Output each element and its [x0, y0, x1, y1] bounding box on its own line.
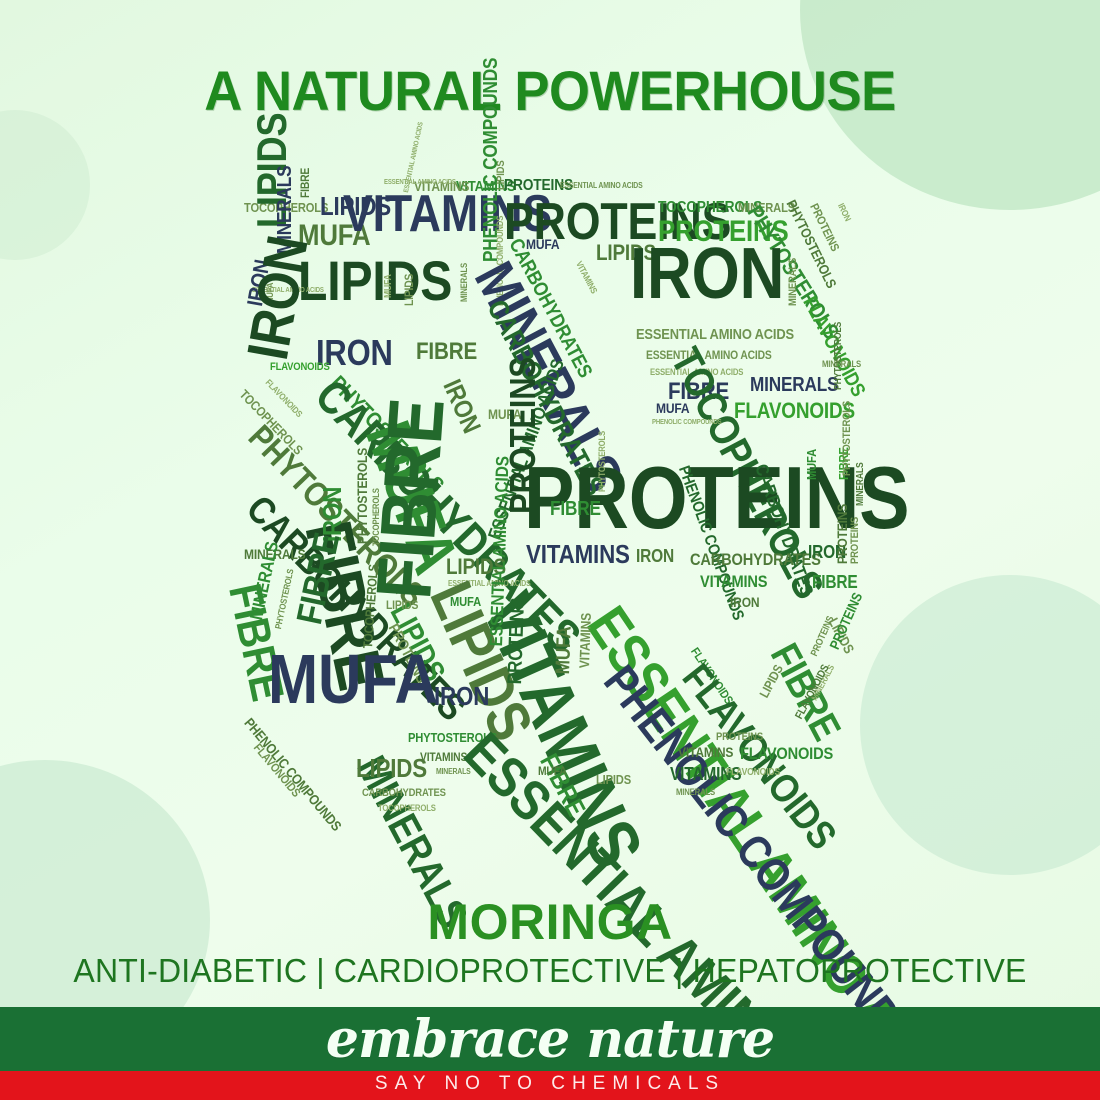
cloud-word: FIBRE — [416, 340, 487, 363]
cloud-word: PROTEINS — [850, 509, 861, 564]
cloud-word-text: FIBRE — [300, 168, 312, 198]
cloud-word-text: LIPIDS — [298, 254, 452, 308]
cloud-word: MINERALS — [788, 250, 799, 306]
cloud-word: LIPIDS — [386, 600, 423, 612]
cloud-word: MINERALS — [676, 788, 721, 797]
cloud-word-text: VITAMINS — [574, 260, 598, 295]
brand-name: embrace nature — [0, 1012, 1100, 1068]
cloud-word: FIBRE — [300, 163, 312, 198]
cloud-word: PHENOLIC COMPOUNDS — [242, 716, 358, 851]
cloud-word-text: LIPIDS — [596, 774, 631, 786]
cloud-word-text: ESSENTIAL AMINO ACIDS — [560, 182, 643, 190]
cloud-word-text: ESSENTIAL AMINO ACIDS — [384, 180, 456, 187]
cloud-word: ESSENTIAL AMINO ACIDS — [384, 180, 467, 187]
cloud-word-text: VITAMINS — [526, 542, 630, 567]
cloud-word-text: MINERALS — [788, 258, 799, 306]
cloud-word: MUFA — [384, 270, 394, 298]
cloud-word: LIPIDS — [404, 269, 416, 306]
cloud-word: CARBOHYDRATES — [362, 788, 459, 799]
plant-name: MORINGA — [0, 893, 1100, 951]
cloud-word-text: FLAVONOIDS — [726, 768, 780, 778]
cloud-word-text: FLAVONOIDS — [734, 400, 855, 421]
cloud-word: ESSENTIAL AMINO ACIDS — [560, 182, 656, 190]
cloud-word: IRON — [434, 684, 498, 709]
cloud-word-text: FLAVONOIDS — [270, 362, 330, 373]
cloud-word-text: ESSENTIAL AMINO ACIDS — [636, 328, 794, 342]
cloud-word: MUFA — [656, 402, 695, 415]
cloud-word-text: MUFA — [538, 766, 567, 778]
cloud-word-text: MUFA — [656, 402, 689, 415]
cloud-word: VITAMINS — [700, 574, 778, 590]
benefits-line: ANTI-DIABETIC | CARDIOPROTECTIVE | HEPAT… — [17, 952, 1084, 990]
cloud-word: VITAMINS — [526, 542, 647, 567]
poster-canvas: A NATURAL POWERHOUSE TOCOPHEROLSLIPIDSFI… — [0, 0, 1100, 1100]
cloud-word: PHYTOSTEROLS — [842, 389, 853, 476]
cloud-word-text: PHYTOSTEROLS — [834, 322, 844, 390]
cloud-word-text: IRON — [730, 596, 759, 609]
cloud-word: VITAMINS — [574, 260, 601, 300]
cloud-word-text: MINERALS — [750, 376, 838, 395]
cloud-word: PROTEINS — [836, 494, 849, 564]
cloud-word-text: IRON — [836, 202, 852, 223]
cloud-word-text: CARBOHYDRATES — [362, 788, 446, 799]
cloud-word: FLAVONOIDS — [270, 362, 339, 373]
cloud-word-text: IRON — [636, 548, 674, 565]
brand-tagline: SAY NO TO CHEMICALS — [0, 1073, 1100, 1095]
cloud-word: IRON — [836, 202, 853, 225]
cloud-word-text: IRON — [630, 240, 784, 309]
decorative-circle-left — [0, 110, 90, 260]
cloud-word-text: VITAMINS — [700, 574, 767, 590]
cloud-word-text: PROTEINS — [850, 517, 861, 564]
cloud-word: PHYTOSTEROLS — [598, 421, 607, 492]
page-title: A NATURAL POWERHOUSE — [33, 62, 1067, 120]
cloud-word-text: PHENOLIC COMPOUNDS — [242, 716, 344, 833]
cloud-word-text: MUFA — [384, 274, 394, 298]
cloud-word-text: MUFA — [268, 646, 438, 713]
cloud-word-text: LIPIDS — [356, 756, 427, 781]
cloud-word-text: PHYTOSTEROLS — [598, 431, 607, 492]
cloud-word: IRON — [240, 212, 320, 364]
cloud-word-text: FIBRE — [812, 574, 858, 591]
cloud-word: IRON — [730, 596, 764, 609]
cloud-word-text: FLAVONOIDS — [740, 746, 833, 762]
cloud-word-text: PROTEINS — [716, 732, 763, 743]
cloud-word: MINERALS — [856, 455, 866, 506]
cloud-word-text: LIPIDS — [404, 274, 416, 306]
cloud-word: TOCOPHEROLS — [378, 804, 445, 813]
cloud-word: ESSENTIAL AMINO ACIDS — [636, 328, 820, 342]
cloud-word: MUFA — [554, 618, 575, 675]
cloud-word-text: PROTEINS — [836, 504, 849, 564]
cloud-word: FLAVONOIDS — [740, 746, 848, 762]
cloud-word: MUFA — [806, 444, 818, 480]
cloud-word: VITAMINS — [578, 604, 594, 669]
cloud-word: LIPIDS — [356, 756, 439, 781]
cloud-word: VITAMINS — [678, 746, 742, 759]
cloud-word-text: IRON — [240, 232, 316, 364]
cloud-word-text: FIBRE — [550, 500, 601, 519]
cloud-word: FLAVONOIDS — [726, 768, 789, 778]
cloud-word: MUFA — [538, 766, 571, 778]
cloud-word-text: PHYTOSTEROLS — [842, 401, 853, 476]
cloud-word-text: MUFA — [806, 449, 818, 480]
cloud-word: MINERALS — [822, 360, 867, 369]
cloud-word-text: MINERALS — [856, 462, 866, 506]
cloud-word: IRON — [630, 240, 809, 309]
cloud-word: FIBRE — [550, 500, 609, 519]
cloud-word: PROTEINS — [506, 583, 529, 684]
word-cloud: TOCOPHEROLSLIPIDSFIBRELIPIDSMUFAVITAMINS… — [238, 176, 864, 884]
decorative-circle-right — [860, 575, 1100, 875]
cloud-word-text: FIBRE — [416, 340, 477, 363]
cloud-word-text: LIPIDS — [386, 600, 418, 612]
cloud-word-text: VITAMINS — [578, 613, 593, 669]
cloud-word: PHENOLIC COMPOUNDS — [652, 420, 733, 427]
cloud-word: LIPIDS — [596, 774, 637, 786]
cloud-word: IRON — [636, 548, 680, 565]
cloud-word-text: IRON — [434, 684, 489, 709]
cloud-word-text: VITAMINS — [678, 746, 733, 759]
cloud-word-text: TOCOPHEROLS — [378, 804, 436, 813]
cloud-word: PHYTOSTEROLS — [834, 311, 844, 390]
cloud-word: PROTEINS — [716, 732, 771, 743]
cloud-word-text: MINERALS — [676, 788, 715, 797]
cloud-word-text: CARBOHYDRATES — [690, 552, 821, 568]
cloud-word-text: PROTEINS — [506, 598, 528, 685]
cloud-word-text: PHENOLIC COMPOUNDS — [652, 420, 721, 427]
cloud-word-text: MUFA — [554, 626, 575, 675]
cloud-word: FLAVONOIDS — [734, 400, 875, 421]
